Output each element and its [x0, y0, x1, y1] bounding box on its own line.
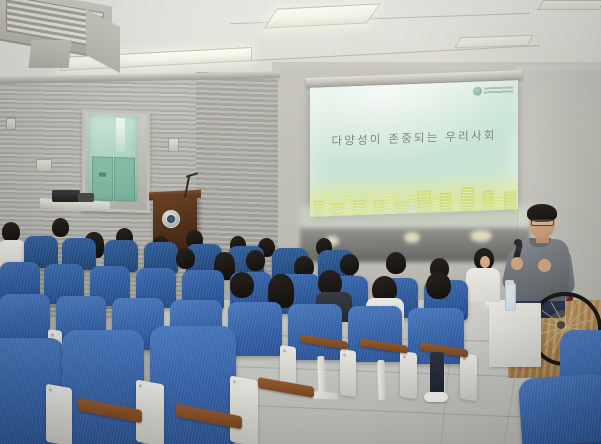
seat[interactable]	[288, 304, 342, 360]
speaker-right-hand	[538, 259, 551, 272]
audience-head	[246, 250, 265, 271]
auditorium-photo: 다양성이 존중되는 우리사회	[0, 0, 601, 444]
seat-foot	[312, 391, 338, 399]
speaker-glasses	[531, 219, 554, 226]
water-bottle-cap	[505, 280, 514, 285]
projection-screen: 다양성이 존중되는 우리사회	[310, 80, 518, 217]
audience-head	[230, 272, 254, 298]
audience-legs	[430, 352, 444, 396]
seat-side-panel	[340, 349, 356, 397]
wall-speaker-box	[168, 138, 179, 152]
audience-head	[340, 254, 359, 275]
audience-head	[426, 272, 451, 299]
audience-body	[466, 268, 500, 302]
audience-face	[480, 256, 490, 268]
air-vent-duct	[29, 40, 72, 68]
audience-head	[2, 222, 20, 242]
wall-plate	[36, 159, 52, 172]
window-door-left	[92, 156, 113, 201]
wheel-hub	[557, 321, 565, 329]
seat[interactable]	[348, 306, 402, 362]
microphone-head	[514, 239, 522, 246]
seat-side-panel	[460, 353, 477, 401]
seat-side-panel	[230, 376, 258, 444]
school-crest-icon	[162, 210, 180, 228]
seat-leg	[377, 360, 385, 400]
audience-head	[176, 248, 195, 269]
audience-head	[386, 252, 406, 274]
seat-leg	[317, 356, 325, 396]
institution-name-text	[484, 86, 513, 94]
window-handle	[99, 173, 106, 177]
water-bottle	[505, 283, 516, 311]
window-glint	[470, 230, 492, 242]
window-reflection	[116, 118, 125, 152]
green-glass-window	[88, 114, 138, 201]
av-equipment	[52, 190, 80, 202]
seat-side-panel	[400, 351, 417, 399]
av-equipment	[78, 193, 94, 202]
seat[interactable]	[228, 302, 282, 356]
wall-switch-box	[6, 118, 16, 130]
seat[interactable]	[518, 373, 601, 444]
audience-shoe	[424, 392, 448, 402]
ceiling-light-far-right	[537, 0, 601, 10]
speaker-left-hand	[511, 257, 523, 270]
window-door-right	[114, 157, 135, 202]
slide-logo	[473, 84, 513, 96]
window-glint	[404, 232, 420, 243]
seat-side-panel	[46, 384, 72, 444]
audience-head	[52, 218, 69, 237]
seat[interactable]	[62, 330, 144, 444]
front-desk	[489, 303, 541, 367]
institution-seal-icon	[473, 87, 482, 96]
